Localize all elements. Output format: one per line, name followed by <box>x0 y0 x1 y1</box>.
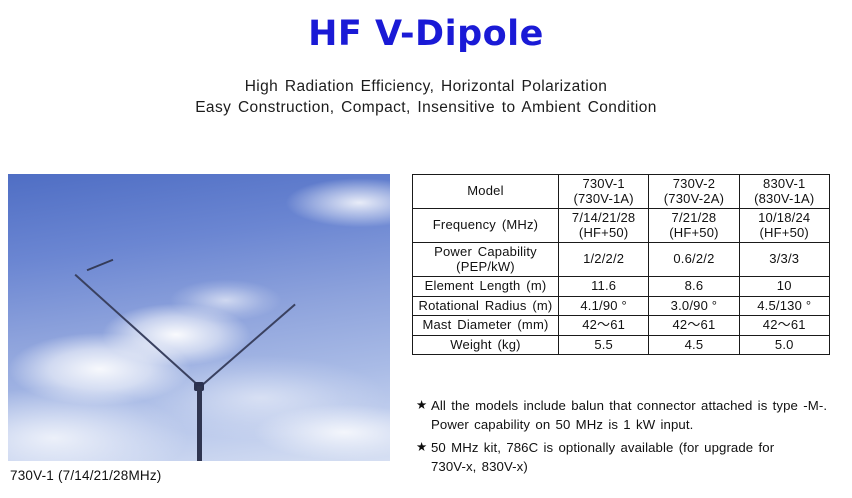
footnote-line-1: 50 MHz kit, 786C is optionally available… <box>431 440 774 455</box>
row-label-main: Frequency (MHz) <box>416 218 555 233</box>
row-label-main: Mast Diameter (mm) <box>416 318 555 333</box>
cell-value: 3.0/90 ° <box>652 299 735 314</box>
cell-value: 4.1/90 ° <box>562 299 645 314</box>
table-cell: 42〜61 <box>559 316 649 336</box>
spec-table-body: Model 730V-1 (730V-1A) 730V-2 (730V-2A) … <box>413 175 830 355</box>
table-cell: 8.6 <box>649 277 739 297</box>
table-cell: 1/2/2/2 <box>559 243 649 277</box>
cell-subvalue: (730V-2A) <box>652 192 735 207</box>
table-cell: 730V-1 (730V-1A) <box>559 175 649 209</box>
cell-subvalue: (HF+50) <box>562 226 645 241</box>
cell-value: 7/14/21/28 <box>562 211 645 226</box>
row-label-main: Rotational Radius (m) <box>416 299 555 314</box>
table-row: Rotational Radius (m) 4.1/90 ° 3.0/90 ° … <box>413 296 830 316</box>
cell-value: 730V-1 <box>562 177 645 192</box>
row-label: Power Capability (PEP/kW) <box>413 243 559 277</box>
footnote-line-2: 730V-x, 830V-x) <box>431 458 844 477</box>
table-row: Weight (kg) 5.5 4.5 5.0 <box>413 335 830 355</box>
cell-subvalue: (HF+50) <box>743 226 826 241</box>
table-row: Mast Diameter (mm) 42〜61 42〜61 42〜61 <box>413 316 830 336</box>
table-cell: 3.0/90 ° <box>649 296 739 316</box>
table-cell: 7/21/28 (HF+50) <box>649 209 739 243</box>
row-label-main: Weight (kg) <box>416 338 555 353</box>
table-cell: 4.1/90 ° <box>559 296 649 316</box>
table-row: Frequency (MHz) 7/14/21/28 (HF+50) 7/21/… <box>413 209 830 243</box>
antenna-tip-left <box>87 259 114 271</box>
star-icon: ★ <box>416 438 427 457</box>
table-cell: 0.6/2/2 <box>649 243 739 277</box>
cell-value: 0.6/2/2 <box>652 252 735 267</box>
antenna-element-left <box>74 274 200 388</box>
cell-value: 730V-2 <box>652 177 735 192</box>
cell-value: 830V-1 <box>743 177 826 192</box>
row-label: Element Length (m) <box>413 277 559 297</box>
row-label: Rotational Radius (m) <box>413 296 559 316</box>
row-label-main: Element Length (m) <box>416 279 555 294</box>
footnote-item: ★ All the models include balun that conn… <box>416 397 844 434</box>
sky-background <box>8 174 390 461</box>
table-cell: 5.5 <box>559 335 649 355</box>
antenna-mast <box>197 386 202 461</box>
subtitle-block: High Radiation Efficiency, Horizontal Po… <box>0 76 852 118</box>
table-cell: 42〜61 <box>739 316 829 336</box>
table-cell: 4.5 <box>649 335 739 355</box>
cell-value: 42〜61 <box>562 318 645 333</box>
cell-value: 42〜61 <box>743 318 826 333</box>
table-cell: 10/18/24 (HF+50) <box>739 209 829 243</box>
page-title: HF V-Dipole <box>0 14 852 54</box>
footnotes: ★ All the models include balun that conn… <box>416 397 844 481</box>
cell-value: 7/21/28 <box>652 211 735 226</box>
table-cell: 730V-2 (730V-2A) <box>649 175 739 209</box>
row-label: Mast Diameter (mm) <box>413 316 559 336</box>
cell-value: 3/3/3 <box>743 252 826 267</box>
table-cell: 830V-1 (830V-1A) <box>739 175 829 209</box>
footnote-line-2: Power capability on 50 MHz is 1 kW input… <box>431 416 844 435</box>
cell-value: 5.5 <box>562 338 645 353</box>
product-photo <box>8 174 390 461</box>
row-label-main: Power Capability <box>416 245 555 260</box>
cell-value: 5.0 <box>743 338 826 353</box>
cell-value: 8.6 <box>652 279 735 294</box>
cell-subvalue: (HF+50) <box>652 226 735 241</box>
cell-value: 1/2/2/2 <box>562 252 645 267</box>
star-icon: ★ <box>416 396 427 415</box>
footnote-line-1: All the models include balun that connec… <box>431 398 827 413</box>
specification-table: Model 730V-1 (730V-1A) 730V-2 (730V-2A) … <box>412 174 830 355</box>
table-cell: 3/3/3 <box>739 243 829 277</box>
table-cell: 10 <box>739 277 829 297</box>
cell-value: 4.5/130 ° <box>743 299 826 314</box>
subtitle-line-1: High Radiation Efficiency, Horizontal Po… <box>0 76 852 97</box>
row-label-main: Model <box>416 184 555 199</box>
table-row: Model 730V-1 (730V-1A) 730V-2 (730V-2A) … <box>413 175 830 209</box>
table-cell: 5.0 <box>739 335 829 355</box>
cell-value: 10/18/24 <box>743 211 826 226</box>
row-label: Model <box>413 175 559 209</box>
product-spec-sheet: HF V-Dipole High Radiation Efficiency, H… <box>0 0 852 498</box>
antenna-element-right <box>199 304 295 388</box>
table-cell: 11.6 <box>559 277 649 297</box>
cell-value: 10 <box>743 279 826 294</box>
cell-value: 42〜61 <box>652 318 735 333</box>
subtitle-line-2: Easy Construction, Compact, Insensitive … <box>0 97 852 118</box>
table-cell: 7/14/21/28 (HF+50) <box>559 209 649 243</box>
cell-subvalue: (730V-1A) <box>562 192 645 207</box>
table-cell: 4.5/130 ° <box>739 296 829 316</box>
cell-value: 11.6 <box>562 279 645 294</box>
table-cell: 42〜61 <box>649 316 739 336</box>
cell-subvalue: (830V-1A) <box>743 192 826 207</box>
table-row: Element Length (m) 11.6 8.6 10 <box>413 277 830 297</box>
photo-caption: 730V-1 (7/14/21/28MHz) <box>10 468 161 483</box>
cell-value: 4.5 <box>652 338 735 353</box>
row-label: Weight (kg) <box>413 335 559 355</box>
footnote-item: ★ 50 MHz kit, 786C is optionally availab… <box>416 439 844 476</box>
row-label-sub: (PEP/kW) <box>416 260 555 275</box>
row-label: Frequency (MHz) <box>413 209 559 243</box>
table-row: Power Capability (PEP/kW) 1/2/2/2 0.6/2/… <box>413 243 830 277</box>
